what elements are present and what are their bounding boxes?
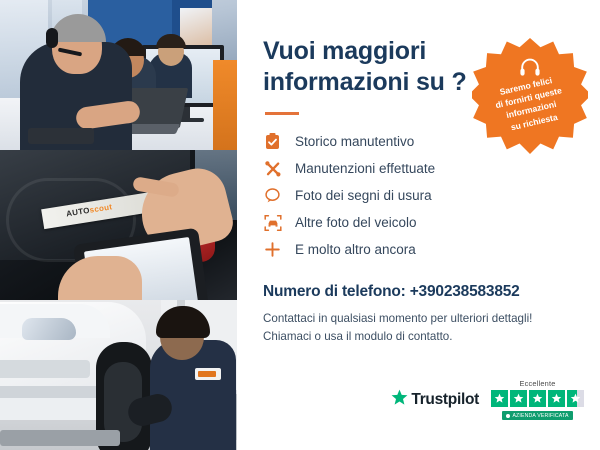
list-item: Manutenzioni effettuate (263, 155, 576, 182)
orange-panel-decor (213, 60, 237, 150)
list-item-label: Storico manutentivo (295, 134, 414, 149)
car-grille-lower (0, 386, 104, 398)
verified-badge: AZIENDA VERIFICATA (502, 411, 572, 420)
promo-page: AUTOscout (0, 0, 600, 450)
list-item: Foto dei segni di usura (263, 182, 576, 209)
phone-label: Numero di telefono: (263, 283, 406, 300)
info-badge: Saremo felici di fornirti queste informa… (472, 38, 588, 154)
trustpilot-logo: Trustpilot (391, 389, 479, 411)
star-icon (548, 390, 565, 407)
list-item-label: Altre foto del veicolo (295, 215, 417, 230)
contact-subtext-line-2: Chiamaci o usa il modulo di contatto. (263, 328, 576, 346)
sticker-tablet-photo: AUTOscout (0, 150, 237, 300)
clipboard-check-icon (263, 132, 282, 151)
rating-caption: Eccellente (519, 379, 555, 388)
call-center-photo (0, 0, 237, 150)
contact-subtext-line-1: Contattaci in qualsiasi momento per ulte… (263, 310, 576, 328)
star-rating (491, 390, 584, 407)
content-panel: Vuoi maggiori informazioni su ? Storico … (237, 0, 600, 450)
list-item-label: Foto dei segni di usura (295, 188, 432, 203)
star-icon (510, 390, 527, 407)
page-title: Vuoi maggiori informazioni su ? (263, 36, 478, 97)
list-item-label: Manutenzioni effettuate (295, 161, 435, 176)
plus-icon (263, 240, 282, 259)
sticker-suffix-text: scout (89, 202, 113, 214)
headline-line-2: informazioni su ? (263, 68, 467, 96)
star-icon (491, 390, 508, 407)
hand-lower (58, 256, 142, 300)
headset-icon (519, 58, 541, 78)
car-lift (0, 430, 120, 446)
verified-check-icon (506, 414, 510, 418)
list-item: E molto altro ancora (263, 236, 576, 263)
list-item: Altre foto del veicolo (263, 209, 576, 236)
title-divider (265, 112, 299, 115)
phone-line: Numero di telefono: +390238583852 (263, 283, 576, 301)
car-headlight (22, 318, 76, 340)
desk-tablet (28, 128, 94, 144)
headline-line-1: Vuoi maggiori (263, 37, 426, 65)
trustpilot-widget[interactable]: Trustpilot Eccellente AZIENDA VERIFICATA (391, 379, 584, 420)
trustpilot-rating: Eccellente AZIENDA VERIFICATA (491, 379, 584, 420)
trustpilot-brand: Trustpilot (411, 391, 479, 409)
star-icon-partial (567, 390, 584, 407)
verified-label: AZIENDA VERIFICATA (512, 413, 568, 419)
photo-column: AUTOscout (0, 0, 237, 450)
mechanic-photo (0, 300, 237, 450)
car-grille (0, 360, 90, 378)
contact-subtext: Contattaci in qualsiasi momento per ulte… (263, 310, 576, 346)
car-frame-icon (263, 213, 282, 232)
trustpilot-star-icon (391, 389, 408, 411)
phone-number[interactable]: +390238583852 (410, 283, 520, 300)
sticker-auto-text: AUTO (65, 206, 90, 219)
uniform-badge (195, 368, 221, 380)
headset-earcup (46, 28, 58, 48)
star-icon (529, 390, 546, 407)
list-item-label: E molto altro ancora (295, 242, 416, 257)
tools-cross-icon (263, 159, 282, 178)
speech-bubble-icon (263, 186, 282, 205)
